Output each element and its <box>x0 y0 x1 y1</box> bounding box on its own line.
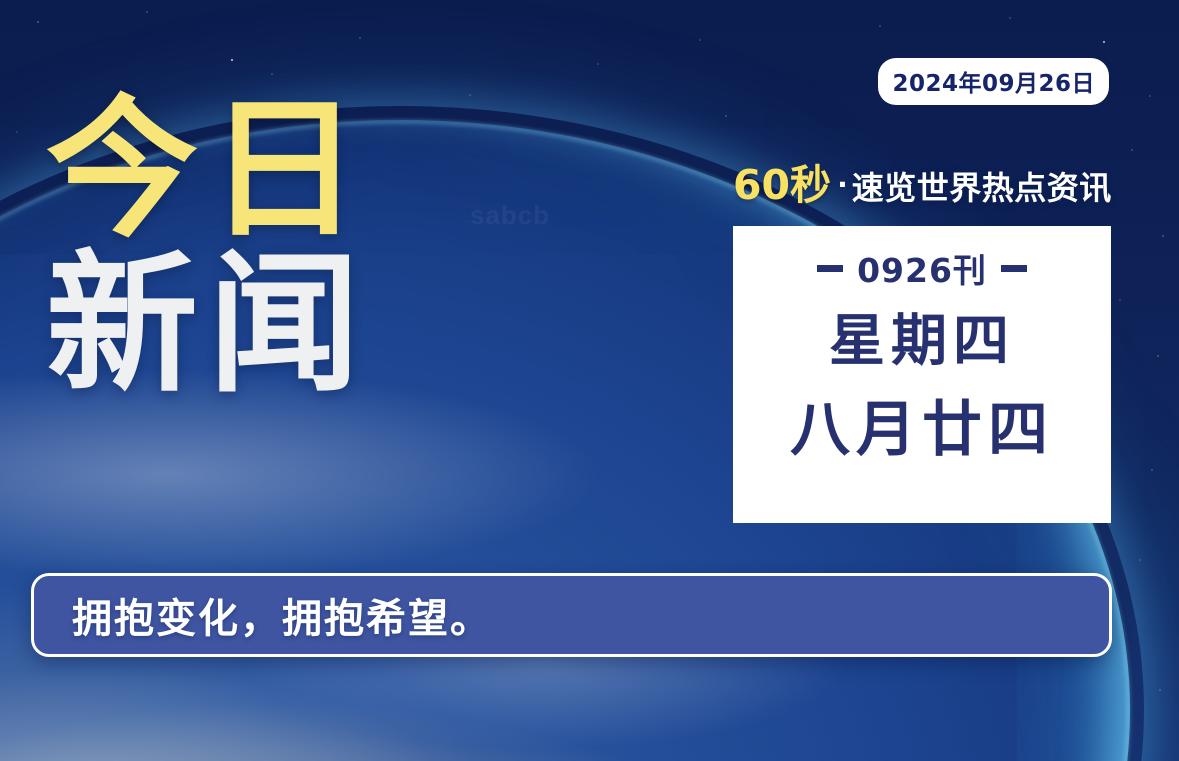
slogan-banner: 拥抱变化，拥抱希望。 <box>31 573 1112 657</box>
slogan-text: 拥抱变化，拥抱希望。 <box>34 586 492 644</box>
weekday-label: 星期四 <box>829 314 1015 370</box>
issue-dash-right-icon <box>1001 265 1027 272</box>
tagline-seconds: 60秒 <box>733 161 831 209</box>
date-badge: 2024年09月26日 <box>878 58 1109 105</box>
issue-label: 0926刊 <box>857 244 987 292</box>
page-title: 今日 新闻 <box>46 96 466 400</box>
tagline-phrase: 速览世界热点资讯 <box>852 169 1112 207</box>
tagline-separator: · <box>831 168 852 201</box>
poster-canvas: sabcb 今日 新闻 2024年09月26日 60秒·速览世界热点资讯 092… <box>0 0 1179 761</box>
page-title-line-1: 今日 <box>46 96 466 245</box>
date-info-card: 0926刊 星期四 八月廿四 <box>733 226 1111 523</box>
lunar-date-label: 八月廿四 <box>790 400 1054 460</box>
issue-row: 0926刊 <box>817 244 1027 292</box>
header-column: 2024年09月26日 60秒·速览世界热点资讯 0926刊 星期四 八月廿四 <box>733 58 1111 523</box>
page-title-line-2: 新闻 <box>46 251 466 400</box>
issue-dash-left-icon <box>817 265 843 272</box>
tagline: 60秒·速览世界热点资讯 <box>733 105 1111 211</box>
watermark-text: sabcb <box>470 200 550 231</box>
